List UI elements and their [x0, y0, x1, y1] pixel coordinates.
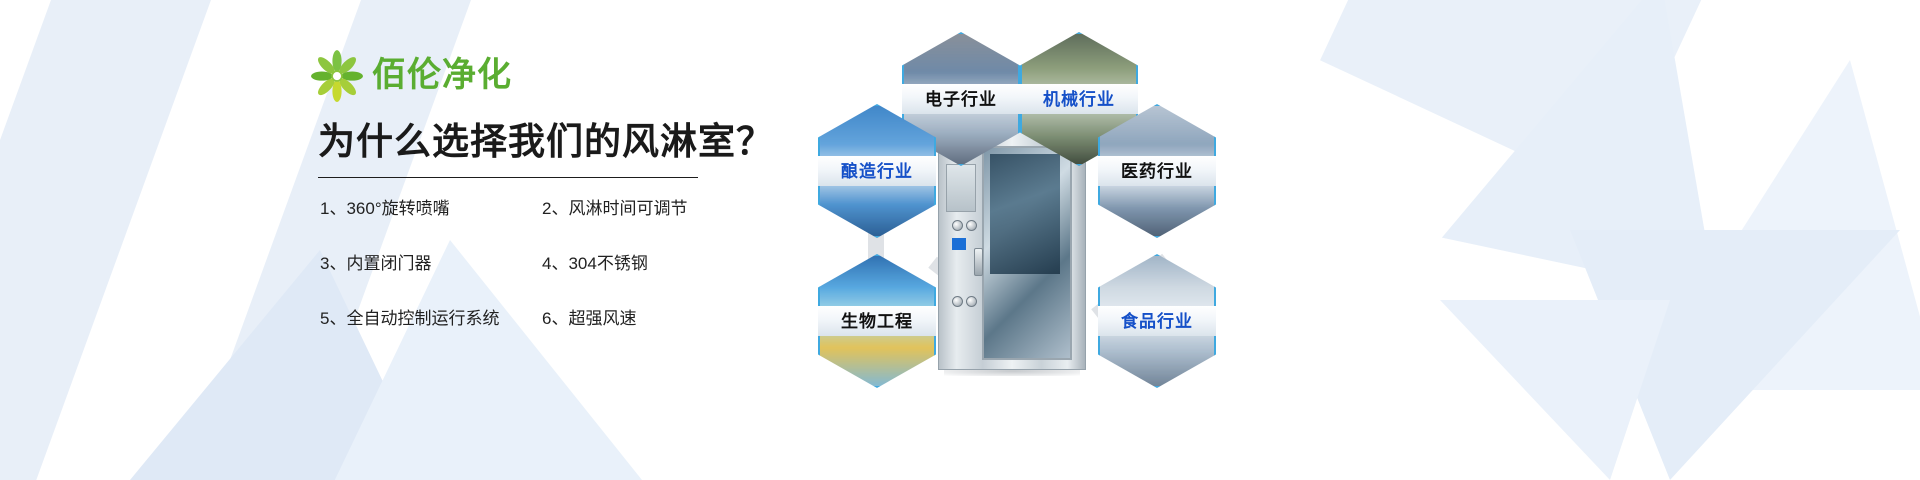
industry-hexagon-diagram: 电子行业 机械行业 酿造行业 医药行业	[790, 0, 1260, 480]
product-knob-1	[952, 220, 963, 231]
banner-text-column: 佰伦净化 为什么选择我们的风淋室？ 1、360°旋转喷嘴 2、风淋时间可调节 3…	[310, 44, 760, 327]
hexagon-badge-food[interactable]: 食品行业	[1098, 254, 1216, 388]
hexagon-label-electronics: 电子行业	[925, 91, 997, 108]
hexagon-label-pharmaceutical: 医药行业	[1121, 163, 1193, 180]
background-triangle-right-d	[1440, 300, 1670, 480]
product-door-handle	[974, 248, 983, 276]
product-control-panel	[946, 164, 976, 212]
product-knob-4	[966, 296, 977, 307]
feature-list: 1、360°旋转喷嘴 2、风淋时间可调节 3、内置闭门器 4、304不锈钢 5、…	[320, 200, 760, 327]
title-divider	[318, 177, 698, 178]
hexagon-label-plate-bioengineering: 生物工程	[818, 306, 936, 336]
feature-item-2: 2、风淋时间可调节	[542, 200, 760, 217]
feature-item-4: 4、304不锈钢	[542, 255, 760, 272]
feature-item-1: 1、360°旋转喷嘴	[320, 200, 538, 217]
hexagon-label-plate-brewing: 酿造行业	[818, 156, 936, 186]
promo-banner: 佰伦净化 为什么选择我们的风淋室？ 1、360°旋转喷嘴 2、风淋时间可调节 3…	[0, 0, 1920, 480]
hexagon-label-mechanical: 机械行业	[1043, 91, 1115, 108]
feature-item-6: 6、超强风速	[542, 310, 760, 327]
hexagon-label-plate-electronics: 电子行业	[902, 84, 1020, 114]
feature-item-3: 3、内置闭门器	[320, 255, 538, 272]
page-title: 为什么选择我们的风淋室？	[318, 122, 760, 163]
product-door-window	[990, 154, 1060, 274]
product-badge	[952, 238, 966, 250]
feature-item-5: 5、全自动控制运行系统	[320, 310, 538, 327]
brand-name: 佰伦净化	[372, 58, 512, 92]
hexagon-label-food: 食品行业	[1121, 313, 1193, 330]
hexagon-label-plate-mechanical: 机械行业	[1020, 84, 1138, 114]
hexagon-badge-bioengineering[interactable]: 生物工程	[818, 254, 936, 388]
hexagon-label-plate-food: 食品行业	[1098, 306, 1216, 336]
hexagon-label-bioengineering: 生物工程	[841, 313, 913, 330]
product-knob-3	[952, 296, 963, 307]
product-knob-2	[966, 220, 977, 231]
brand-lockup: 佰伦净化	[310, 44, 760, 106]
hexagon-label-plate-pharmaceutical: 医药行业	[1098, 156, 1216, 186]
hexagon-label-brewing: 酿造行业	[841, 163, 913, 180]
flower-petal-logo-icon	[310, 48, 364, 102]
